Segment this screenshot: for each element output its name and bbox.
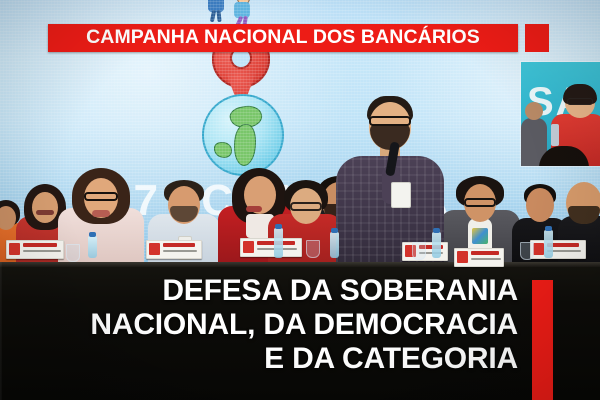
promotional-image: 27º CONFERA xyxy=(0,0,600,400)
speaker-eyeglasses-icon xyxy=(369,116,411,126)
headline-line-3: E DA CATEGORIA xyxy=(0,342,518,376)
water-bottle xyxy=(544,230,553,258)
drinking-glass xyxy=(66,244,80,262)
name-placard xyxy=(240,238,302,257)
picture-in-picture-inset: SA xyxy=(521,62,600,166)
water-bottle xyxy=(432,232,441,258)
pip-water-bottle xyxy=(551,124,559,146)
banner-accent-square xyxy=(525,24,549,52)
drinking-glass xyxy=(306,240,320,258)
headline-line-1: DEFESA DA SOBERANIA xyxy=(0,274,518,308)
cartoon-figure-left-icon xyxy=(208,0,224,20)
water-bottle xyxy=(274,228,283,258)
name-placard xyxy=(6,240,64,259)
water-bottle xyxy=(330,232,339,258)
headline-accent-bar xyxy=(532,280,553,400)
water-bottle xyxy=(88,236,97,258)
headline-text: DEFESA DA SOBERANIA NACIONAL, DA DEMOCRA… xyxy=(0,274,518,376)
headline-line-2: NACIONAL, DA DEMOCRACIA xyxy=(0,308,518,342)
name-placard xyxy=(454,248,504,267)
drinking-glass xyxy=(520,242,534,260)
name-placard xyxy=(530,240,586,259)
globe-icon xyxy=(202,94,284,176)
drinking-glass xyxy=(412,242,426,260)
eyeglasses-icon xyxy=(84,192,118,201)
campaign-banner: CAMPANHA NACIONAL DOS BANCÁRIOS xyxy=(48,24,518,52)
pip-eyeglasses-icon xyxy=(567,98,593,105)
name-placard xyxy=(146,240,202,259)
speaker-credential-badge xyxy=(391,182,411,208)
cartoon-figure-right-icon xyxy=(234,0,250,26)
campaign-banner-text: CAMPANHA NACIONAL DOS BANCÁRIOS xyxy=(86,28,480,48)
